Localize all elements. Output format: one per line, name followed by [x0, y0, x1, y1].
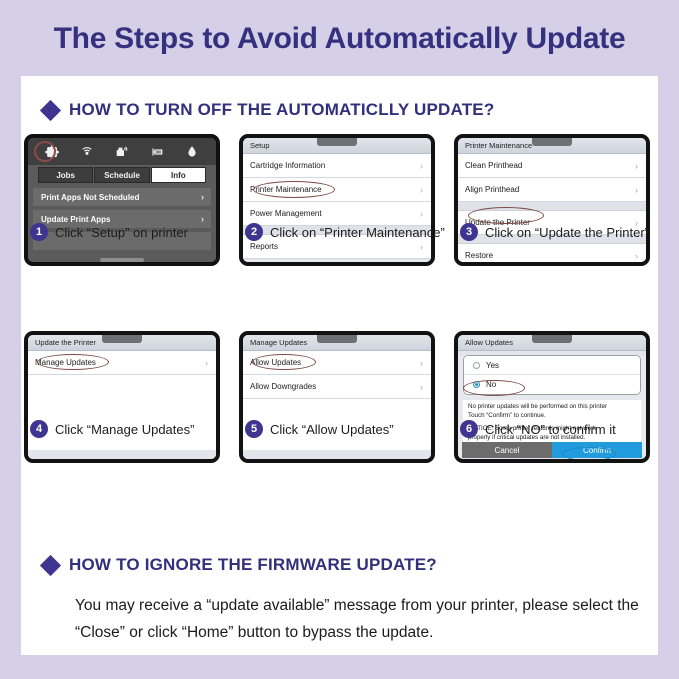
gear-icon[interactable] [44, 144, 60, 160]
home-indicator[interactable] [100, 258, 144, 262]
fax-icon[interactable] [114, 144, 130, 160]
diamond-bullet-icon [40, 99, 61, 120]
screen-body: Allow Updates › Allow Downgrades › [243, 351, 431, 459]
step-caption-label: Click on “Update the Printer” [485, 225, 649, 240]
step-caption-label: Click “Setup” on printer [55, 225, 188, 240]
tab-jobs[interactable]: Jobs [38, 167, 93, 183]
menu-item-label: Power Management [250, 209, 322, 218]
step-4-screen: Update the Printer Manage Updates › [24, 331, 220, 463]
wifi-icon[interactable] [79, 144, 95, 160]
step-caption-2: 2 Click on “Printer Maintenance” [245, 223, 445, 241]
screen-notch [317, 138, 357, 146]
radio-label: Yes [486, 361, 499, 370]
step-caption-4: 4 Click “Manage Updates” [30, 420, 194, 438]
step-number-badge: 2 [245, 223, 263, 241]
menu-item-label: Allow Updates [250, 358, 301, 367]
chevron-right-icon: › [420, 209, 423, 219]
section-heading-ignore-update: HOW TO IGNORE THE FIRMWARE UPDATE? [43, 555, 437, 575]
tab-info[interactable]: Info [151, 167, 206, 183]
step-caption-5: 5 Click “Allow Updates” [245, 420, 394, 438]
cartridge-icon[interactable] [149, 144, 165, 160]
step-3-screen: Printer Maintenance Clean Printhead › Al… [454, 134, 650, 266]
menu-item-label: Align Printhead [465, 185, 519, 194]
chevron-right-icon: › [205, 358, 208, 368]
menu-item-label: Allow Downgrades [250, 382, 316, 391]
menu-bottom-strip [28, 450, 216, 459]
printer-screen-manage-updates[interactable]: Manage Updates Allow Updates › Allow Dow… [239, 331, 435, 463]
menu-item-cartridge-information[interactable]: Cartridge Information › [243, 154, 431, 178]
chevron-right-icon: › [420, 358, 423, 368]
poster-page: The Steps to Avoid Automatically Update … [0, 0, 679, 679]
screen-body: Manage Updates › [28, 351, 216, 459]
chevron-right-icon: › [420, 185, 423, 195]
menu-filler [28, 375, 216, 450]
step-2-screen: Setup Cartridge Information › Printer Ma… [239, 134, 435, 266]
menu-item-label: Manage Updates [35, 358, 96, 367]
step-number-badge: 3 [460, 223, 478, 241]
ignore-update-body-text: You may receive a “update available” mes… [75, 592, 645, 646]
printer-tab-bar: Jobs Schedule Info [28, 165, 216, 183]
radio-label: No [486, 380, 496, 389]
radio-option-no[interactable]: No [464, 375, 640, 394]
notice-line-1: No printer updates will be performed on … [468, 403, 607, 410]
diamond-bullet-icon [40, 554, 61, 575]
section-heading-label: HOW TO IGNORE THE FIRMWARE UPDATE? [69, 555, 437, 575]
radio-option-yes[interactable]: Yes [464, 356, 640, 375]
chevron-right-icon: › [635, 185, 638, 195]
content-card: HOW TO TURN OFF THE AUTOMATICLLY UPDATE? [21, 76, 658, 655]
menu-item-label: Restore [465, 251, 493, 260]
row-label: Print Apps Not Scheduled [41, 193, 139, 202]
menu-bottom-strip [243, 450, 431, 459]
screen-notch [532, 138, 572, 146]
menu-item-label: Clean Printhead [465, 161, 522, 170]
chevron-right-icon: › [420, 242, 423, 252]
printer-screen-allow-updates[interactable]: Allow Updates Yes No [454, 331, 650, 463]
step-number-badge: 4 [30, 420, 48, 438]
section-heading-turn-off: HOW TO TURN OFF THE AUTOMATICLLY UPDATE? [43, 100, 494, 120]
chevron-right-icon: › [420, 161, 423, 171]
screen-body: Cartridge Information › Printer Maintena… [243, 154, 431, 262]
radio-icon-selected [473, 381, 480, 388]
row-print-apps-not-scheduled[interactable]: Print Apps Not Scheduled › [33, 188, 211, 207]
chevron-right-icon: › [201, 192, 204, 202]
menu-item-label: Printer Maintenance [250, 185, 322, 194]
confirm-button[interactable]: Confirm [552, 442, 642, 458]
printer-icon-bar [28, 138, 216, 165]
menu-filler [243, 259, 431, 266]
dialog-button-row: Cancel Confirm [462, 442, 642, 458]
radio-icon-unselected [473, 362, 480, 369]
cancel-button[interactable]: Cancel [462, 442, 552, 458]
step-caption-1: 1 Click “Setup” on printer [30, 223, 188, 241]
screen-notch [317, 335, 357, 343]
chevron-right-icon: › [635, 161, 638, 171]
menu-item-restore[interactable]: Restore › [458, 244, 646, 266]
step-number-badge: 1 [30, 223, 48, 241]
menu-item-manage-updates[interactable]: Manage Updates › [28, 351, 216, 375]
menu-item-printer-maintenance[interactable]: Printer Maintenance › [243, 178, 431, 202]
screen-notch [532, 335, 572, 343]
step-caption-label: Click “Allow Updates” [270, 422, 394, 437]
step-caption-label: Click on “Printer Maintenance” [270, 225, 445, 240]
menu-item-allow-downgrades[interactable]: Allow Downgrades › [243, 375, 431, 399]
step-caption-6: 6 Click “NO” to confirm it [460, 420, 616, 438]
chevron-right-icon: › [420, 382, 423, 392]
chevron-right-icon: › [201, 214, 204, 224]
menu-item-allow-updates[interactable]: Allow Updates › [243, 351, 431, 375]
step-number-badge: 6 [460, 420, 478, 438]
screen-notch [102, 335, 142, 343]
step-5-screen: Manage Updates Allow Updates › Allow Dow… [239, 331, 435, 463]
step-6-screen: Allow Updates Yes No [454, 331, 650, 463]
tab-schedule[interactable]: Schedule [94, 167, 149, 183]
screen-body: Clean Printhead › Align Printhead › Upda… [458, 154, 646, 262]
ink-drop-icon[interactable] [184, 144, 200, 160]
notice-line-2: Touch “Confirm” to continue. [468, 412, 546, 419]
printer-screen-setup[interactable]: Setup Cartridge Information › Printer Ma… [239, 134, 435, 266]
printer-screen-update-the-printer[interactable]: Update the Printer Manage Updates › [24, 331, 220, 463]
section-heading-label: HOW TO TURN OFF THE AUTOMATICLLY UPDATE? [69, 100, 494, 120]
step-caption-3: 3 Click on “Update the Printer” [460, 223, 649, 241]
screen-body: Yes No No printer updates will be perfor… [458, 355, 646, 463]
menu-item-clean-printhead[interactable]: Clean Printhead › [458, 154, 646, 178]
step-number-badge: 5 [245, 420, 263, 438]
printer-screen-home[interactable]: Jobs Schedule Info Print Apps Not Schedu… [24, 134, 220, 266]
radio-group-allow-updates: Yes No [463, 355, 641, 395]
menu-item-label: Reports [250, 242, 278, 251]
step-1-screen: Jobs Schedule Info Print Apps Not Schedu… [24, 134, 220, 266]
printer-screen-maintenance[interactable]: Printer Maintenance Clean Printhead › Al… [454, 134, 650, 266]
step-caption-label: Click “Manage Updates” [55, 422, 194, 437]
menu-separator [458, 202, 646, 211]
step-caption-label: Click “NO” to confirm it [485, 422, 616, 437]
page-title: The Steps to Avoid Automatically Update [0, 22, 679, 56]
menu-item-align-printhead[interactable]: Align Printhead › [458, 178, 646, 202]
menu-item-label: Cartridge Information [250, 161, 325, 170]
chevron-right-icon: › [635, 251, 638, 261]
